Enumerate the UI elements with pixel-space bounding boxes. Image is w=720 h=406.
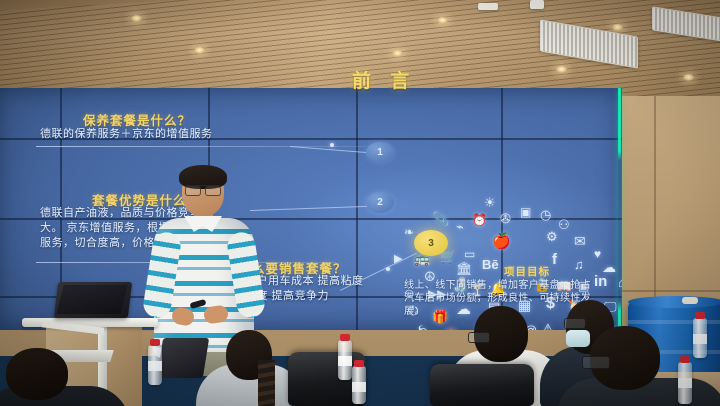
connector-dot-1 xyxy=(330,143,334,147)
bottle-cap xyxy=(680,356,690,363)
presentation-room-photo: ☀ ❧ 📎 ⌁ ⏰ ✇ ▣ ◷ ⚇ 🍎 ⚙ ✉ ▶ 🚌 🛒 ▭ 🏛 Bē ☮ f… xyxy=(0,0,720,406)
braid-hair xyxy=(258,360,275,406)
bottle-label xyxy=(338,356,352,366)
bottle-cap xyxy=(340,334,350,341)
paperclip-icon: 📎 xyxy=(432,212,449,226)
drum-cap xyxy=(682,297,698,304)
bottle-cap xyxy=(354,360,364,367)
water-bottle xyxy=(338,340,352,380)
downlight-icon xyxy=(556,66,567,73)
facebook-icon: f xyxy=(552,252,557,267)
drum-top xyxy=(628,296,720,308)
bottle-label xyxy=(678,378,692,388)
water-bottle xyxy=(148,345,162,385)
downlight-icon xyxy=(683,74,694,81)
glasses-icon xyxy=(185,185,221,194)
laptop-lid xyxy=(54,282,132,318)
clock-icon: ◷ xyxy=(540,208,551,221)
cloud-icon: ☁ xyxy=(602,260,616,274)
laptop xyxy=(56,282,134,322)
alarm-clock-icon: ⏰ xyxy=(472,214,487,226)
wifi-icon: ⌁ xyxy=(456,220,464,233)
connector-dot-3 xyxy=(386,267,390,271)
sun-icon: ☀ xyxy=(484,196,496,209)
ceiling-speaker xyxy=(530,0,544,9)
apple-icon: 🍎 xyxy=(492,234,511,249)
water-bottle xyxy=(693,318,707,358)
bottle-label xyxy=(148,361,162,371)
ceiling-sensor xyxy=(478,3,498,10)
bottle-label xyxy=(693,334,707,344)
music-note-icon: ♫ xyxy=(574,258,584,271)
people-icon: ⚇ xyxy=(558,218,570,231)
bottle-cap xyxy=(695,312,705,319)
chair xyxy=(430,364,534,406)
slide-block-1-body: 德联的保养服务＋京东的增值服务 xyxy=(40,127,213,142)
water-bottle xyxy=(678,362,692,404)
audience-laptop xyxy=(157,338,209,378)
step-bubble-3[interactable]: 3 xyxy=(414,230,448,256)
step-bubble-1[interactable]: 1 xyxy=(366,142,394,162)
audience-head xyxy=(6,348,68,400)
step-bubble-2[interactable]: 2 xyxy=(366,192,394,213)
bottle-label xyxy=(352,382,366,392)
downlight-icon xyxy=(131,15,142,22)
compass-icon: ✇ xyxy=(500,212,511,225)
laptop-screen xyxy=(57,285,128,314)
envelope-icon: ✉ xyxy=(574,234,586,248)
downlight-icon xyxy=(437,17,448,24)
balloon-icon: ❧ xyxy=(404,226,414,238)
glasses-icon xyxy=(582,356,610,369)
glasses-icon xyxy=(468,332,490,343)
heart-icon: ♥ xyxy=(594,248,601,260)
wall-seam xyxy=(654,96,656,306)
slide-title: 前 言 xyxy=(352,66,416,93)
audience-member xyxy=(0,348,120,406)
bank-icon: 🏛 xyxy=(456,262,473,275)
water-bottle xyxy=(352,366,366,404)
led-accent-strip xyxy=(618,88,621,330)
leaf-icon: 🍃 xyxy=(414,326,430,330)
downlight-icon xyxy=(612,24,623,31)
bottle-cap xyxy=(150,339,160,346)
gear-icon: ⚙ xyxy=(546,230,558,243)
project-goal-heading: 项目目标 xyxy=(504,264,550,279)
downlight-icon xyxy=(392,50,403,57)
downlight-icon xyxy=(194,47,205,54)
tv-icon: ▭ xyxy=(464,248,475,260)
behance-icon: Bē xyxy=(482,258,499,271)
camera-icon: ▣ xyxy=(520,206,531,218)
divider xyxy=(36,146,366,147)
